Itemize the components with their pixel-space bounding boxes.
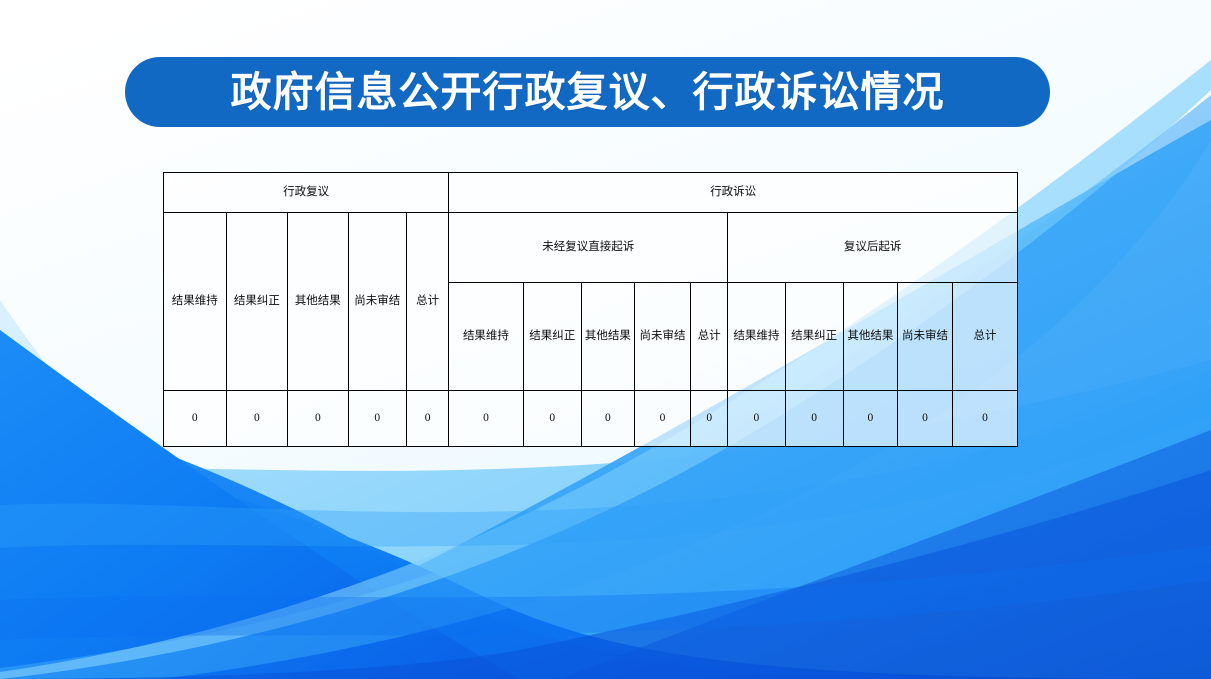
- data-cell: 0: [843, 391, 897, 447]
- column-header-direct-result-upheld: 结果维持: [449, 283, 523, 391]
- column-header-direct-other-result: 其他结果: [581, 283, 634, 391]
- sub-header-direct-litigation: 未经复议直接起诉: [449, 213, 728, 283]
- column-header-recon-pending: 尚未审结: [348, 213, 406, 391]
- column-header-recon-result-upheld: 结果维持: [164, 213, 227, 391]
- data-cell: 0: [953, 391, 1018, 447]
- column-header-recon-result-corrected: 结果纠正: [226, 213, 288, 391]
- column-header-direct-result-corrected: 结果纠正: [523, 283, 581, 391]
- data-cell: 0: [288, 391, 348, 447]
- group-header-administrative-litigation: 行政诉讼: [449, 173, 1018, 213]
- column-header-recon-total: 总计: [406, 213, 448, 391]
- statistics-table-container: 行政复议 行政诉讼 结果维持 结果纠正 其他结果 尚未审结 总计 未经复议直接起…: [163, 172, 1018, 447]
- data-cell: 0: [691, 391, 728, 447]
- column-header-direct-pending: 尚未审结: [634, 283, 690, 391]
- sub-header-litigation-after-reconsideration: 复议后起诉: [728, 213, 1018, 283]
- statistics-table: 行政复议 行政诉讼 结果维持 结果纠正 其他结果 尚未审结 总计 未经复议直接起…: [163, 172, 1018, 447]
- table-row-group-headers: 行政复议 行政诉讼: [164, 173, 1018, 213]
- column-header-after-recon-result-upheld: 结果维持: [728, 283, 785, 391]
- column-header-after-recon-result-corrected: 结果纠正: [785, 283, 843, 391]
- slide-title-banner: 政府信息公开行政复议、行政诉讼情况: [125, 57, 1050, 127]
- table-row: 0 0 0 0 0 0 0 0 0 0 0 0 0 0 0: [164, 391, 1018, 447]
- data-cell: 0: [164, 391, 227, 447]
- data-cell: 0: [728, 391, 785, 447]
- data-cell: 0: [348, 391, 406, 447]
- data-cell: 0: [449, 391, 523, 447]
- slide-root: 政府信息公开行政复议、行政诉讼情况 行政复议 行政诉讼 结果维持 结果纠正 其他…: [0, 0, 1211, 679]
- data-cell: 0: [581, 391, 634, 447]
- column-header-after-recon-other-result: 其他结果: [843, 283, 897, 391]
- data-cell: 0: [523, 391, 581, 447]
- data-cell: 0: [785, 391, 843, 447]
- column-header-direct-total: 总计: [691, 283, 728, 391]
- column-header-after-recon-total: 总计: [953, 283, 1018, 391]
- table-row-sub-headers: 结果维持 结果纠正 其他结果 尚未审结 总计 未经复议直接起诉 复议后起诉: [164, 213, 1018, 283]
- group-header-administrative-reconsideration: 行政复议: [164, 173, 449, 213]
- page-title: 政府信息公开行政复议、行政诉讼情况: [231, 72, 945, 113]
- column-header-after-recon-pending: 尚未审结: [897, 283, 952, 391]
- data-cell: 0: [634, 391, 690, 447]
- data-cell: 0: [226, 391, 288, 447]
- column-header-recon-other-result: 其他结果: [288, 213, 348, 391]
- data-cell: 0: [897, 391, 952, 447]
- data-cell: 0: [406, 391, 448, 447]
